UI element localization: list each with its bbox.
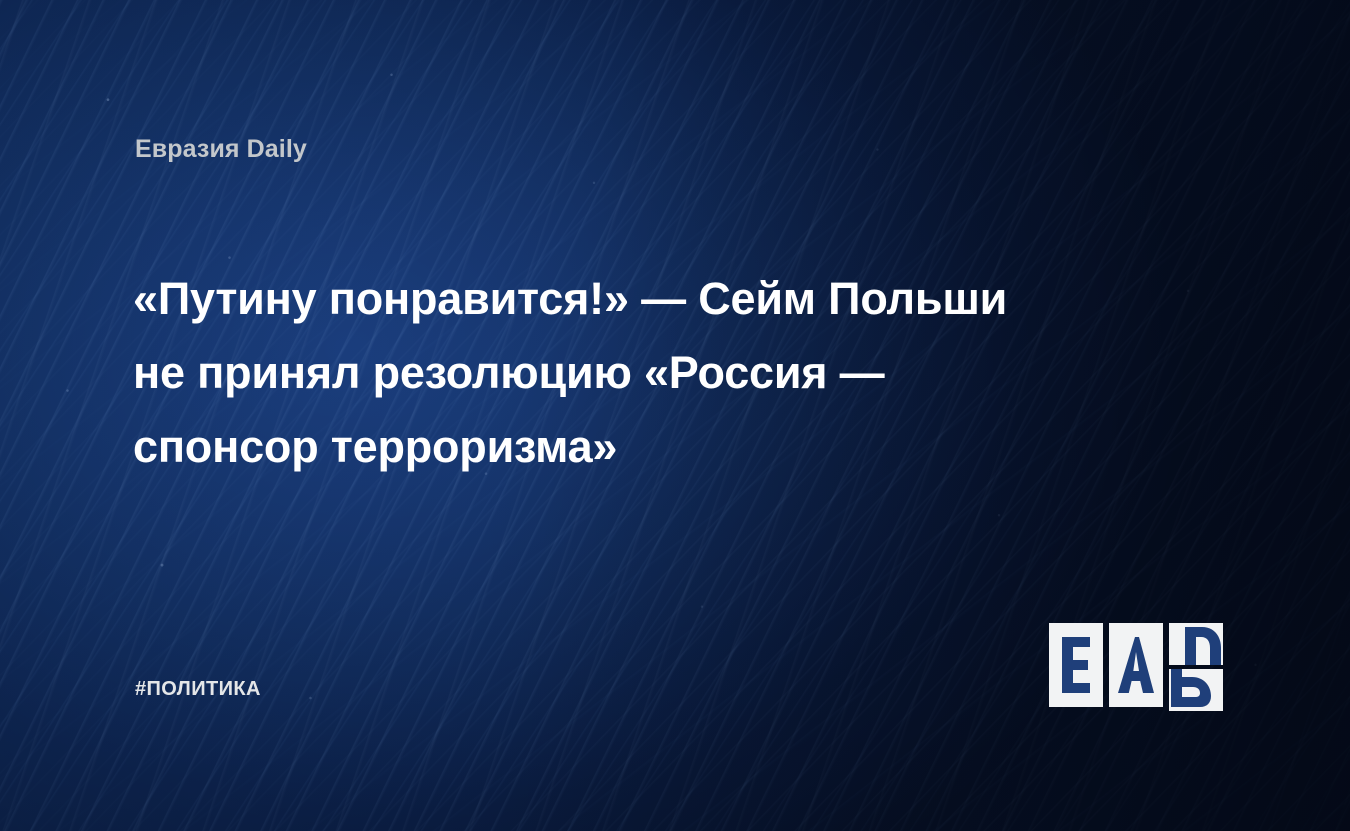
eadaily-logo: [1049, 623, 1225, 711]
headline-line-1: «Путину понравится!» — Сейм Польши: [133, 262, 1193, 336]
category-hashtag: #ПОЛИТИКА: [135, 678, 261, 701]
publication-name: Евразия Daily: [135, 135, 307, 164]
logo-tile-e: [1049, 623, 1103, 707]
logo-tile-d: [1169, 623, 1223, 711]
card-content: Евразия Daily «Путину понравится!» — Сей…: [0, 0, 1350, 831]
logo-tile-d-lower: [1169, 669, 1223, 711]
headline-line-2: не принял резолюцию «Россия —: [133, 336, 1193, 410]
headline: «Путину понравится!» — Сейм Польши не пр…: [133, 262, 1193, 484]
eadaily-social-card: Евразия Daily «Путину понравится!» — Сей…: [0, 0, 1350, 831]
logo-tile-d-upper: [1169, 623, 1223, 665]
headline-line-3: спонсор терроризма»: [133, 410, 1193, 484]
logo-tile-a: [1109, 623, 1163, 707]
